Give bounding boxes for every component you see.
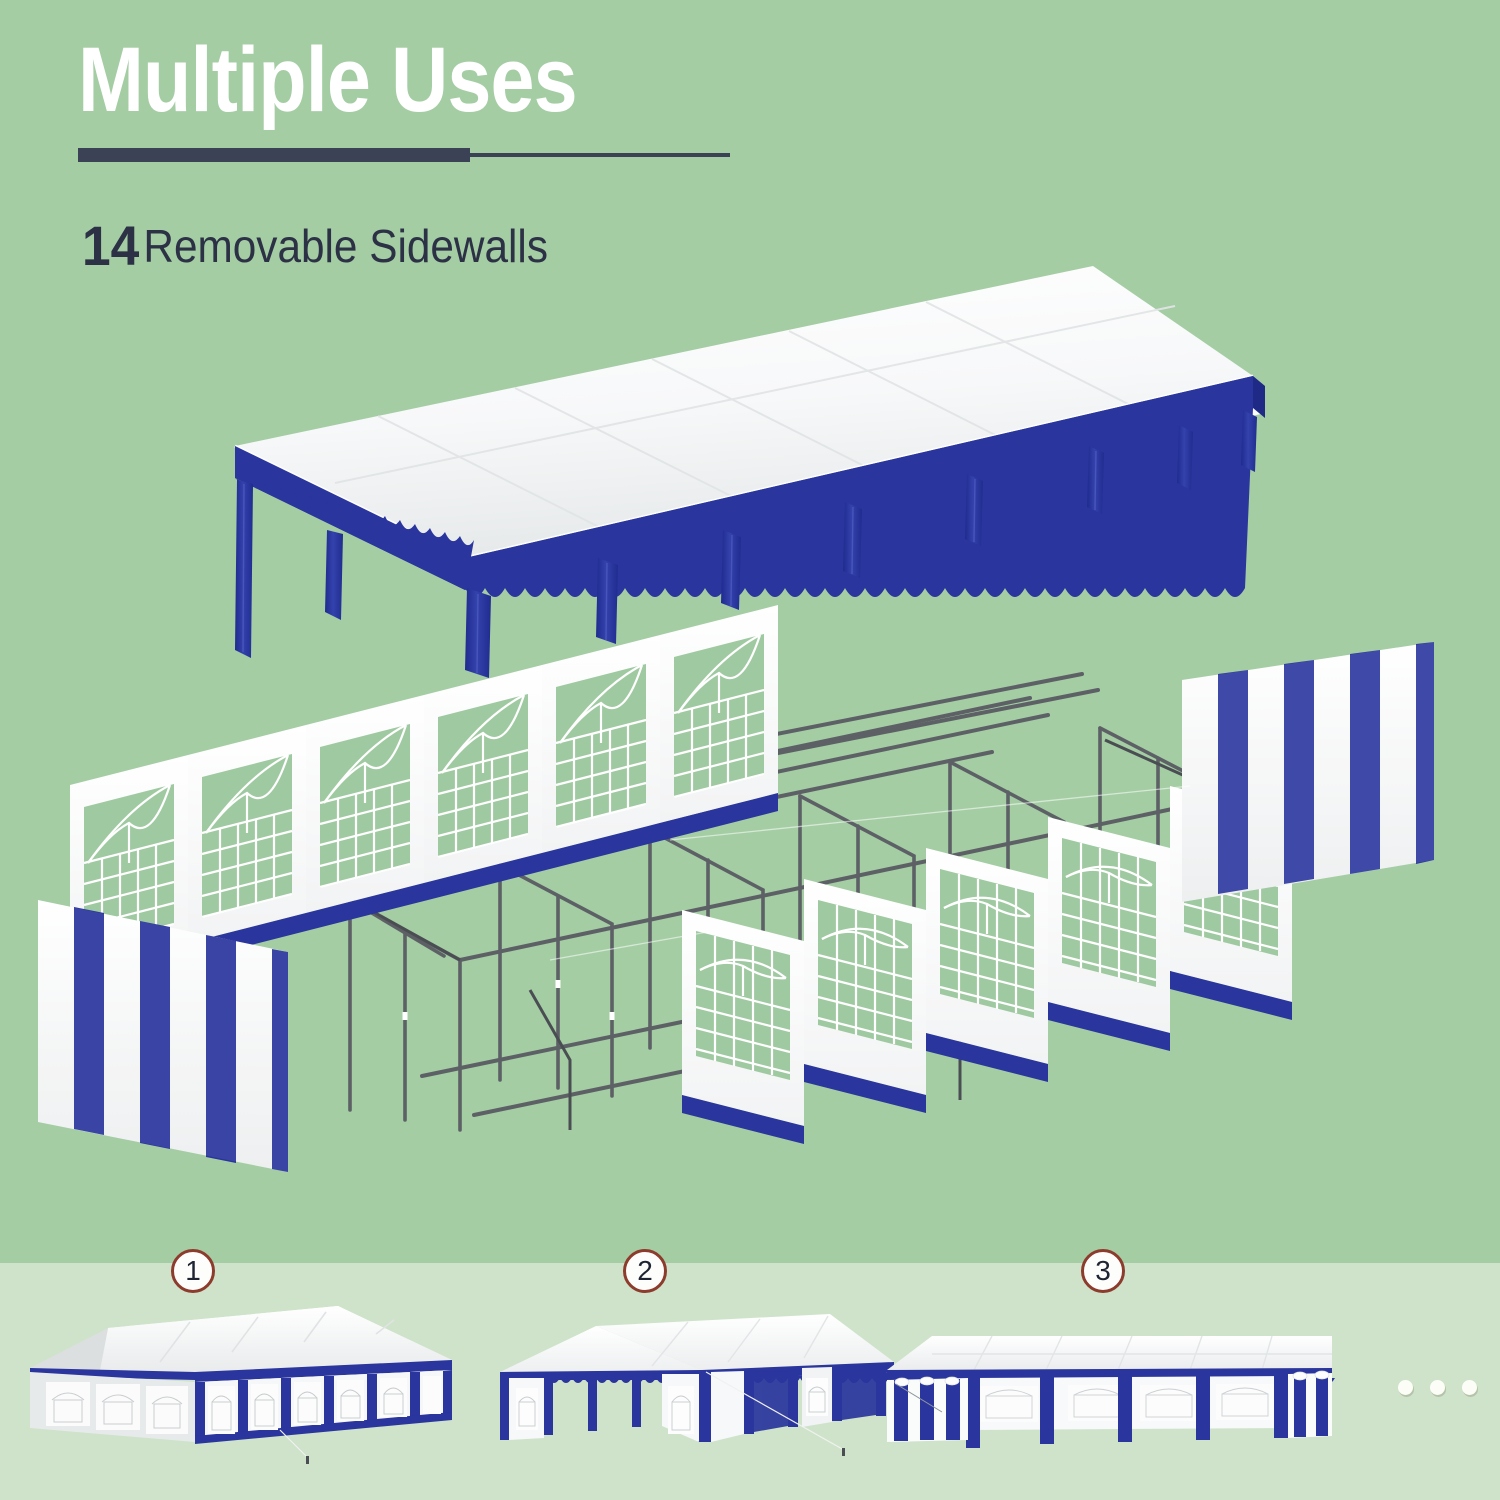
thumbnail-open-sides[interactable] [492, 1300, 902, 1500]
subtitle-count: 14 [82, 214, 139, 277]
divider-thick-segment [78, 148, 470, 162]
page-title: Multiple Uses [78, 34, 577, 126]
infographic-canvas: Multiple Uses 14 Removable Sidewalls [0, 0, 1500, 1500]
callout-badge-2[interactable]: 2 [623, 1249, 667, 1293]
pagination-dot-2[interactable] [1430, 1380, 1445, 1395]
divider-thin-segment [470, 153, 730, 157]
pagination-dot-3[interactable] [1462, 1380, 1477, 1395]
callout-badge-3[interactable]: 3 [1081, 1249, 1125, 1293]
thumbnail-side-elevation[interactable] [882, 1310, 1332, 1490]
title-divider [78, 148, 730, 162]
pagination-dot-1[interactable] [1398, 1380, 1413, 1395]
exploded-frame-and-sidewalls [30, 660, 1470, 1220]
callout-badge-1[interactable]: 1 [171, 1249, 215, 1293]
thumbnail-fully-enclosed[interactable] [0, 1300, 460, 1500]
pagination-dots[interactable] [1398, 1380, 1477, 1395]
